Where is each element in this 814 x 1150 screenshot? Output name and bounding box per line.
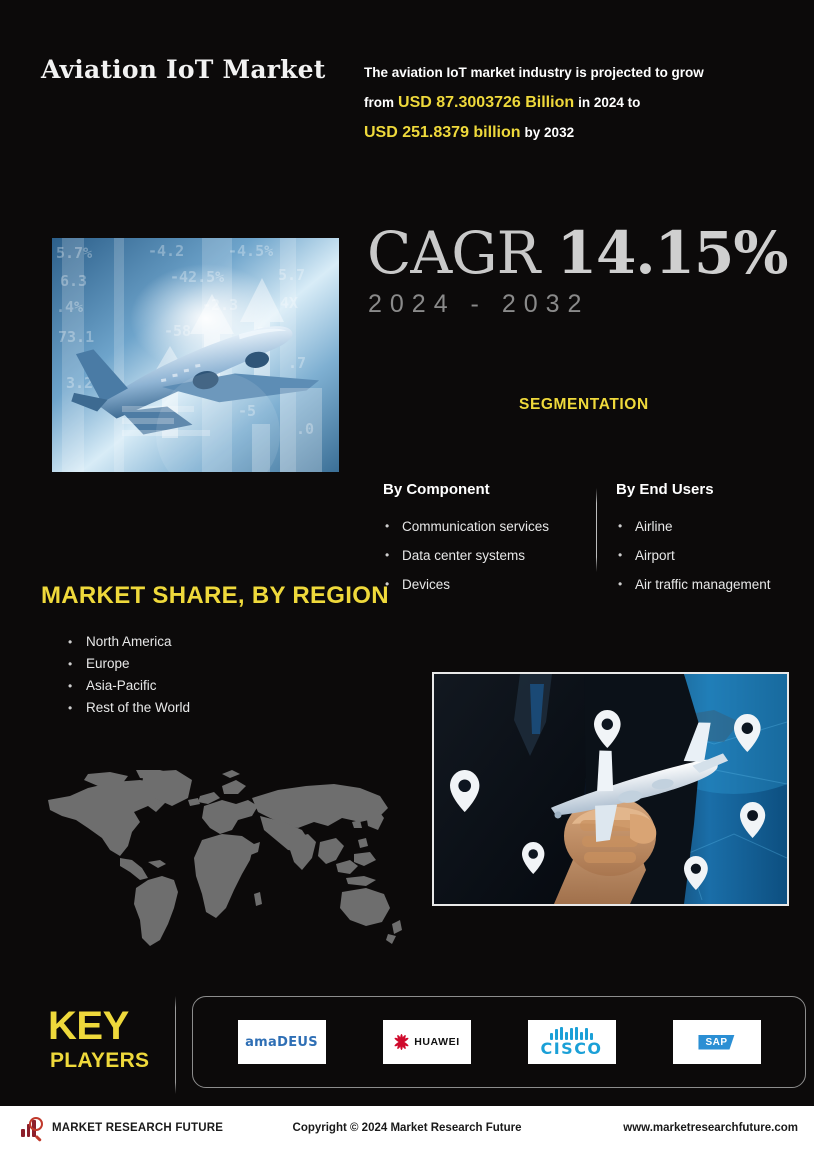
world-map xyxy=(36,768,408,953)
iot-hand-airplane-photo-svg xyxy=(434,674,787,904)
key-players-label-key: KEY xyxy=(48,1006,129,1046)
svg-text:-4.5%: -4.5% xyxy=(228,242,273,260)
list-item: Airline xyxy=(616,512,814,541)
cagr-value: 14.15% xyxy=(557,219,788,287)
list-item: North America xyxy=(66,631,190,653)
cisco-wordmark: CISCO xyxy=(540,1041,602,1057)
magnifier-handle-icon xyxy=(35,1134,42,1141)
svg-text:5.7%: 5.7% xyxy=(56,244,92,262)
cagr-headline: CAGR 14.15% xyxy=(367,222,787,284)
summary-from-label: from xyxy=(364,95,394,110)
logo-huawei[interactable]: HUAWEI xyxy=(383,1020,471,1064)
svg-text:73.1: 73.1 xyxy=(58,328,94,346)
list-item: Asia-Pacific xyxy=(66,675,190,697)
cagr-label: CAGR xyxy=(367,219,539,287)
iot-hand-airplane-photo xyxy=(432,672,789,906)
segmentation-title: SEGMENTATION xyxy=(519,396,649,414)
cisco-lockup: CISCO xyxy=(540,1027,602,1057)
svg-text:.4%: .4% xyxy=(56,298,83,316)
huawei-flower-icon xyxy=(393,1034,409,1050)
airplane-financial-photo-svg: 5.7%-4.2-4.5% 6.3-42.5%5.7 .4%-2.34X 73.… xyxy=(52,238,339,472)
segmentation-list-end-users: Airline Airport Air traffic management xyxy=(616,512,814,599)
segmentation-divider xyxy=(596,488,597,572)
list-item: Devices xyxy=(383,570,583,599)
list-item: Air traffic management xyxy=(616,570,814,599)
summary-line-1: The aviation IoT market industry is proj… xyxy=(364,65,704,80)
key-players-logo-box: amaDEUS HUAWEI CISCO SAP xyxy=(192,996,806,1088)
logo-amadeus[interactable]: amaDEUS xyxy=(238,1020,326,1064)
segmentation-heading: By End Users xyxy=(616,481,814,498)
sap-wordmark: SAP xyxy=(698,1035,734,1050)
amadeus-wordmark: amaDEUS xyxy=(245,1035,318,1050)
world-map-svg xyxy=(36,768,408,953)
list-item: Data center systems xyxy=(383,541,583,570)
market-share-region-list: North America Europe Asia-Pacific Rest o… xyxy=(66,631,190,719)
page-title: Aviation IoT Market xyxy=(41,52,341,88)
segmentation-heading: By Component xyxy=(383,481,583,498)
svg-text:6.3: 6.3 xyxy=(60,272,87,290)
key-players-divider xyxy=(175,996,176,1094)
list-item: Airport xyxy=(616,541,814,570)
footer-website-url[interactable]: www.marketresearchfuture.com xyxy=(623,1122,798,1134)
cagr-period: 2024 - 2032 xyxy=(368,290,589,319)
huawei-lockup: HUAWEI xyxy=(393,1034,460,1050)
footer-bar: MARKET RESEARCH FUTURE Copyright © 2024 … xyxy=(0,1106,814,1150)
value-2032: USD 251.8379 billion xyxy=(364,124,521,141)
value-2024: USD 87.3003726 Billion xyxy=(398,94,574,111)
market-summary-text: The aviation IoT market industry is proj… xyxy=(364,58,784,148)
summary-mid-label: in 2024 to xyxy=(578,95,640,110)
market-share-title: MARKET SHARE, BY REGION xyxy=(41,582,389,610)
segmentation-column-end-users: By End Users Airline Airport Air traffic… xyxy=(616,481,814,599)
logo-sap[interactable]: SAP xyxy=(673,1020,761,1064)
list-item: Communication services xyxy=(383,512,583,541)
summary-end-label: by 2032 xyxy=(525,125,575,140)
key-players-label-players: PLAYERS xyxy=(50,1050,149,1072)
svg-text:-4.2: -4.2 xyxy=(148,242,184,260)
logo-cisco[interactable]: CISCO xyxy=(528,1020,616,1064)
segmentation-list-component: Communication services Data center syste… xyxy=(383,512,583,599)
segmentation-column-component: By Component Communication services Data… xyxy=(383,481,583,599)
huawei-wordmark: HUAWEI xyxy=(414,1036,460,1048)
infographic-page: Aviation IoT Market The aviation IoT mar… xyxy=(0,0,814,1150)
svg-text:5.7: 5.7 xyxy=(278,266,305,284)
list-item: Europe xyxy=(66,653,190,675)
list-item: Rest of the World xyxy=(66,697,190,719)
airplane-financial-photo: 5.7%-4.2-4.5% 6.3-42.5%5.7 .4%-2.34X 73.… xyxy=(52,238,339,472)
